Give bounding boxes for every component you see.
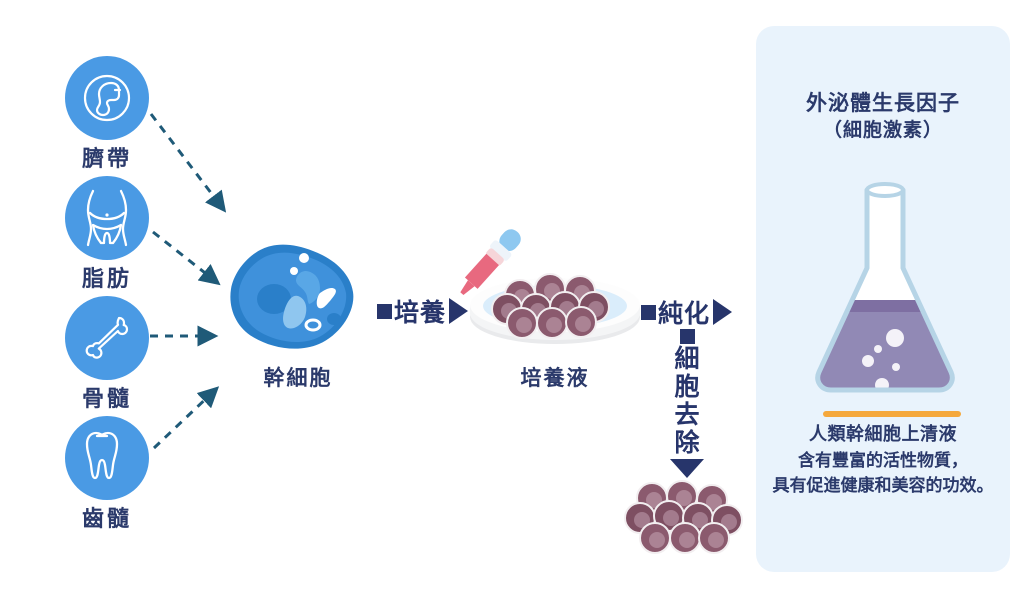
tooth-icon xyxy=(82,430,132,486)
petri-dish-icon xyxy=(460,225,650,355)
square-bullet-icon xyxy=(641,305,656,320)
panel-heading: 人類幹細胞上清液 xyxy=(756,420,1010,446)
bone-marrow-circle xyxy=(65,296,149,380)
arrow-right-icon xyxy=(713,299,732,325)
step-culture-label: 培養 xyxy=(394,293,446,329)
panel-title-sub: （細胞激素） xyxy=(756,118,1010,144)
body-fat-icon xyxy=(81,189,133,247)
source-bone-marrow[interactable]: 骨髓 xyxy=(37,296,177,411)
cell-colonies xyxy=(492,274,609,338)
source-label-umbilical: 臍帶 xyxy=(37,147,177,171)
source-label-marrow: 骨髓 xyxy=(37,387,177,411)
orange-divider xyxy=(823,411,961,417)
step-purify: 純化 xyxy=(641,294,732,330)
panel-description-line2: 具有促進健康和美容的功效。 xyxy=(756,474,1010,499)
source-umbilical-cord[interactable]: 臍帶 xyxy=(37,56,177,171)
diagram-canvas: 臍帶 脂肪 骨髓 齒髓 xyxy=(0,0,1024,599)
bone-icon xyxy=(79,310,135,366)
step-cell-removal-label: 細胞去除 xyxy=(674,345,699,457)
flask-graphic xyxy=(800,172,970,402)
source-fat[interactable]: 脂肪 xyxy=(37,176,177,291)
step-culture: 培養 xyxy=(377,293,468,329)
step-purify-label: 純化 xyxy=(658,294,710,330)
dish-label: 培養液 xyxy=(470,362,640,392)
source-label-pulp: 齒髓 xyxy=(37,507,177,531)
embryo-icon xyxy=(79,70,135,126)
panel-description-line1: 含有豐富的活性物質， xyxy=(756,449,1010,474)
erlenmeyer-flask-icon xyxy=(800,172,970,402)
petri-dish-graphic xyxy=(460,225,650,355)
step-cell-removal: 細胞去除 xyxy=(664,329,710,478)
dental-pulp-circle xyxy=(65,416,149,500)
stem-cell-graphic xyxy=(228,243,368,353)
square-bullet-icon xyxy=(377,304,392,319)
square-bullet-icon xyxy=(680,329,695,344)
source-dental-pulp[interactable]: 齒髓 xyxy=(37,416,177,531)
panel-description: 含有豐富的活性物質， 具有促進健康和美容的功效。 xyxy=(756,449,1010,498)
panel-title-main: 外泌體生長因子 xyxy=(806,92,960,115)
purified-cells-graphic xyxy=(624,478,748,568)
stem-cell-label: 幹細胞 xyxy=(228,362,368,392)
cell-cluster-icon xyxy=(624,478,748,568)
umbilical-cord-circle xyxy=(65,56,149,140)
stem-cell-icon xyxy=(228,243,368,353)
arrow-down-icon xyxy=(670,459,704,478)
source-label-fat: 脂肪 xyxy=(37,267,177,291)
panel-title: 外泌體生長因子 （細胞激素） xyxy=(756,90,1010,144)
fat-circle xyxy=(65,176,149,260)
